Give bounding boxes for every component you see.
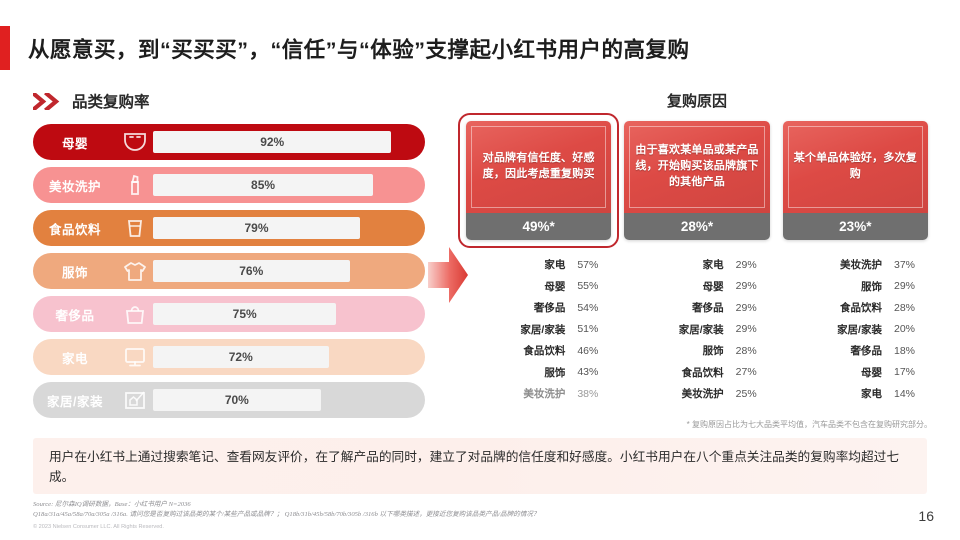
bar-track: 76% [153,260,415,282]
breakdown-value: 17% [894,366,928,378]
footnote-marker: * [866,219,871,234]
table-row: 美妆洗护37% [783,254,928,276]
reason-card-image: 对品牌有信任度、好感度，因此考虑重复购买 [466,121,611,213]
double-chevron-right-icon [33,93,63,110]
bar-value-label: 72% [229,350,253,364]
source-note: Source: 尼尔森IQ调研数据，Base：小红书用户 N=2036 Q18a… [33,500,863,520]
breakdown-category: 食品饮料 [466,343,577,358]
table-row: 家电57% [466,254,611,276]
bar-fill: 70% [153,389,321,411]
reason-percent: 49% [523,219,550,234]
breakdown-category: 家电 [783,386,894,401]
table-row: 母婴55% [466,276,611,298]
breakdown-value: 20% [894,323,928,335]
breakdown-value: 27% [736,366,770,378]
breakdown-category: 母婴 [624,279,735,294]
repurchase-bar-row: 奢侈品75% [33,296,425,332]
breakdown-value: 29% [894,280,928,292]
table-row: 服饰28% [624,340,769,362]
bar-fill: 72% [153,346,329,368]
breakdown-value: 51% [577,323,611,335]
breakdown-value: 43% [577,366,611,378]
bar-value-label: 92% [260,135,284,149]
reason-percent: 23% [839,219,866,234]
repurchase-bar-list: 母婴92%美妆洗护85%食品饮料79%服饰76%奢侈品75%家电72%家居/家装… [33,124,425,418]
breakdown-category: 美妆洗护 [783,257,894,272]
page-title: 从愿意买，到“买买买”，“信任”与“体验”支撑起小红书用户的高复购 [28,33,690,64]
table-row: 家电14% [783,383,928,405]
breakdown-category: 服饰 [624,343,735,358]
bar-value-label: 79% [244,221,268,235]
breakdown-value: 29% [736,259,770,271]
table-row: 食品饮料27% [624,362,769,384]
bar-track: 92% [153,131,415,153]
table-row: 美妆洗护25% [624,383,769,405]
reason-card-body: 由于喜欢某单品或某产品线，开始购买该品牌旗下的其他产品28%* [624,121,769,240]
reason-card-footer: 49%* [466,213,611,240]
breakdown-category: 服饰 [783,279,894,294]
breakdown-category: 家电 [466,257,577,272]
breakdown-value: 46% [577,345,611,357]
reason-card-body: 某个单品体验好，多次复购23%* [783,121,928,240]
breakdown-category: 食品饮料 [783,300,894,315]
reason-card-image: 某个单品体验好，多次复购 [783,121,928,213]
bar-track: 75% [153,303,415,325]
source-line-1: Source: 尼尔森IQ调研数据，Base：小红书用户 N=2036 [33,500,863,510]
breakdown-category: 美妆洗护 [466,386,577,401]
bar-fill: 76% [153,260,350,282]
category-repurchase-panel: 品类复购率 母婴92%美妆洗护85%食品饮料79%服饰76%奢侈品75%家电72… [33,90,425,425]
reason-card-image: 由于喜欢某单品或某产品线，开始购买该品牌旗下的其他产品 [624,121,769,213]
monitor-icon [117,345,153,369]
breakdown-value: 29% [736,323,770,335]
table-row: 服饰43% [466,362,611,384]
reason-breakdown-tables: 家电57%母婴55%奢侈品54%家居/家装51%食品饮料46%服饰43%美妆洗护… [462,254,932,405]
breakdown-category: 家居/家装 [466,322,577,337]
copyright-note: © 2023 Nielsen Consumer LLC. All Rights … [33,524,164,530]
repurchase-bar-row: 家电72% [33,339,425,375]
bar-category-label: 奢侈品 [33,305,117,324]
bar-value-label: 70% [225,393,249,407]
reason-card-footer: 23%* [783,213,928,240]
title-accent-bar [0,26,10,70]
bar-value-label: 85% [251,178,275,192]
repurchase-bar-row: 母婴92% [33,124,425,160]
table-row: 母婴17% [783,362,928,384]
breakdown-category: 美妆洗护 [624,386,735,401]
breakdown-value: 38% [577,388,611,400]
page-number: 16 [918,508,934,524]
repurchase-bar-row: 食品饮料79% [33,210,425,246]
table-row: 服饰29% [783,276,928,298]
reason-card-list: 对品牌有信任度、好感度，因此考虑重复购买49%*由于喜欢某单品或某产品线，开始购… [462,121,932,240]
table-row: 家居/家装20% [783,319,928,341]
breakdown-category: 奢侈品 [783,343,894,358]
breakdown-value: 57% [577,259,611,271]
reason-card-footer: 28%* [624,213,769,240]
breakdown-value: 37% [894,259,928,271]
breakdown-value: 14% [894,388,928,400]
breakdown-value: 29% [736,280,770,292]
breakdown-value: 28% [894,302,928,314]
table-row: 家电29% [624,254,769,276]
repurchase-bar-row: 美妆洗护85% [33,167,425,203]
bar-category-label: 食品饮料 [33,219,117,238]
bar-category-label: 家居/家装 [33,391,117,410]
breakdown-category: 母婴 [783,365,894,380]
reason-breakdown-table: 美妆洗护37%服饰29%食品饮料28%家居/家装20%奢侈品18%母婴17%家电… [783,254,928,405]
table-row: 母婴29% [624,276,769,298]
repurchase-reason-panel: 复购原因 对品牌有信任度、好感度，因此考虑重复购买49%*由于喜欢某单品或某产品… [462,90,932,405]
home-plan-icon [117,388,153,412]
breakdown-category: 服饰 [466,365,577,380]
bar-category-label: 美妆洗护 [33,176,117,195]
reason-text: 对品牌有信任度、好感度，因此考虑重复购买 [472,151,605,183]
reason-text: 由于喜欢某单品或某产品线，开始购买该品牌旗下的其他产品 [630,143,763,191]
slide-root: 从愿意买，到“买买买”，“信任”与“体验”支撑起小红书用户的高复购 品类复购率 … [0,0,960,540]
lipstick-icon [117,173,153,197]
footnote: * 复购原因占比为七大品类平均值，汽车品类不包含在复购研究部分。 [462,419,932,430]
bar-fill: 79% [153,217,360,239]
breakdown-value: 54% [577,302,611,314]
reason-breakdown-table: 家电29%母婴29%奢侈品29%家居/家装29%服饰28%食品饮料27%美妆洗护… [624,254,769,405]
left-section-header: 品类复购率 [33,90,425,112]
reason-card-body: 对品牌有信任度、好感度，因此考虑重复购买49%* [466,121,611,240]
footnote-marker: * [708,219,713,234]
bar-value-label: 75% [233,307,257,321]
cup-icon [117,216,153,240]
left-section-title: 品类复购率 [72,90,150,112]
footnote-marker: * [550,219,555,234]
bar-fill: 85% [153,174,373,196]
reason-card[interactable]: 对品牌有信任度、好感度，因此考虑重复购买49%* [466,121,611,240]
breakdown-category: 家电 [624,257,735,272]
summary-callout: 用户在小红书上通过搜索笔记、查看网友评价，在了解产品的同时，建立了对品牌的信任度… [33,438,927,494]
table-row: 奢侈品29% [624,297,769,319]
table-row: 奢侈品54% [466,297,611,319]
slide-title-row: 从愿意买，到“买买买”，“信任”与“体验”支撑起小红书用户的高复购 [0,26,960,70]
breakdown-category: 奢侈品 [466,300,577,315]
breakdown-value: 25% [736,388,770,400]
repurchase-bar-row: 服饰76% [33,253,425,289]
bar-category-label: 家电 [33,348,117,367]
bar-category-label: 母婴 [33,133,117,152]
reason-card[interactable]: 由于喜欢某单品或某产品线，开始购买该品牌旗下的其他产品28%* [624,121,769,240]
bar-value-label: 76% [239,264,263,278]
sweater-icon [117,259,153,283]
breakdown-value: 28% [736,345,770,357]
table-row: 家居/家装29% [624,319,769,341]
source-line-2: Q18a/31a/45a/58a/70a/305a /316a. 请问您是否复购… [33,510,863,520]
breakdown-category: 家居/家装 [783,322,894,337]
reason-text: 某个单品体验好，多次复购 [789,151,922,183]
handbag-icon [117,302,153,326]
breakdown-value: 18% [894,345,928,357]
breakdown-category: 奢侈品 [624,300,735,315]
right-section-title: 复购原因 [462,90,932,111]
bar-category-label: 服饰 [33,262,117,281]
bar-fill: 75% [153,303,336,325]
bar-track: 79% [153,217,415,239]
table-row: 美妆洗护38% [466,383,611,405]
reason-breakdown-table: 家电57%母婴55%奢侈品54%家居/家装51%食品饮料46%服饰43%美妆洗护… [466,254,611,405]
table-row: 家居/家装51% [466,319,611,341]
repurchase-bar-row: 家居/家装70% [33,382,425,418]
breakdown-category: 食品饮料 [624,365,735,380]
bar-track: 72% [153,346,415,368]
breakdown-value: 29% [736,302,770,314]
table-row: 食品饮料28% [783,297,928,319]
bar-track: 85% [153,174,415,196]
breakdown-category: 家居/家装 [624,322,735,337]
table-row: 奢侈品18% [783,340,928,362]
reason-card[interactable]: 某个单品体验好，多次复购23%* [783,121,928,240]
breakdown-category: 母婴 [466,279,577,294]
reason-percent: 28% [681,219,708,234]
bar-track: 70% [153,389,415,411]
breakdown-value: 55% [577,280,611,292]
table-row: 食品饮料46% [466,340,611,362]
diaper-icon [117,130,153,154]
bar-fill: 92% [153,131,391,153]
